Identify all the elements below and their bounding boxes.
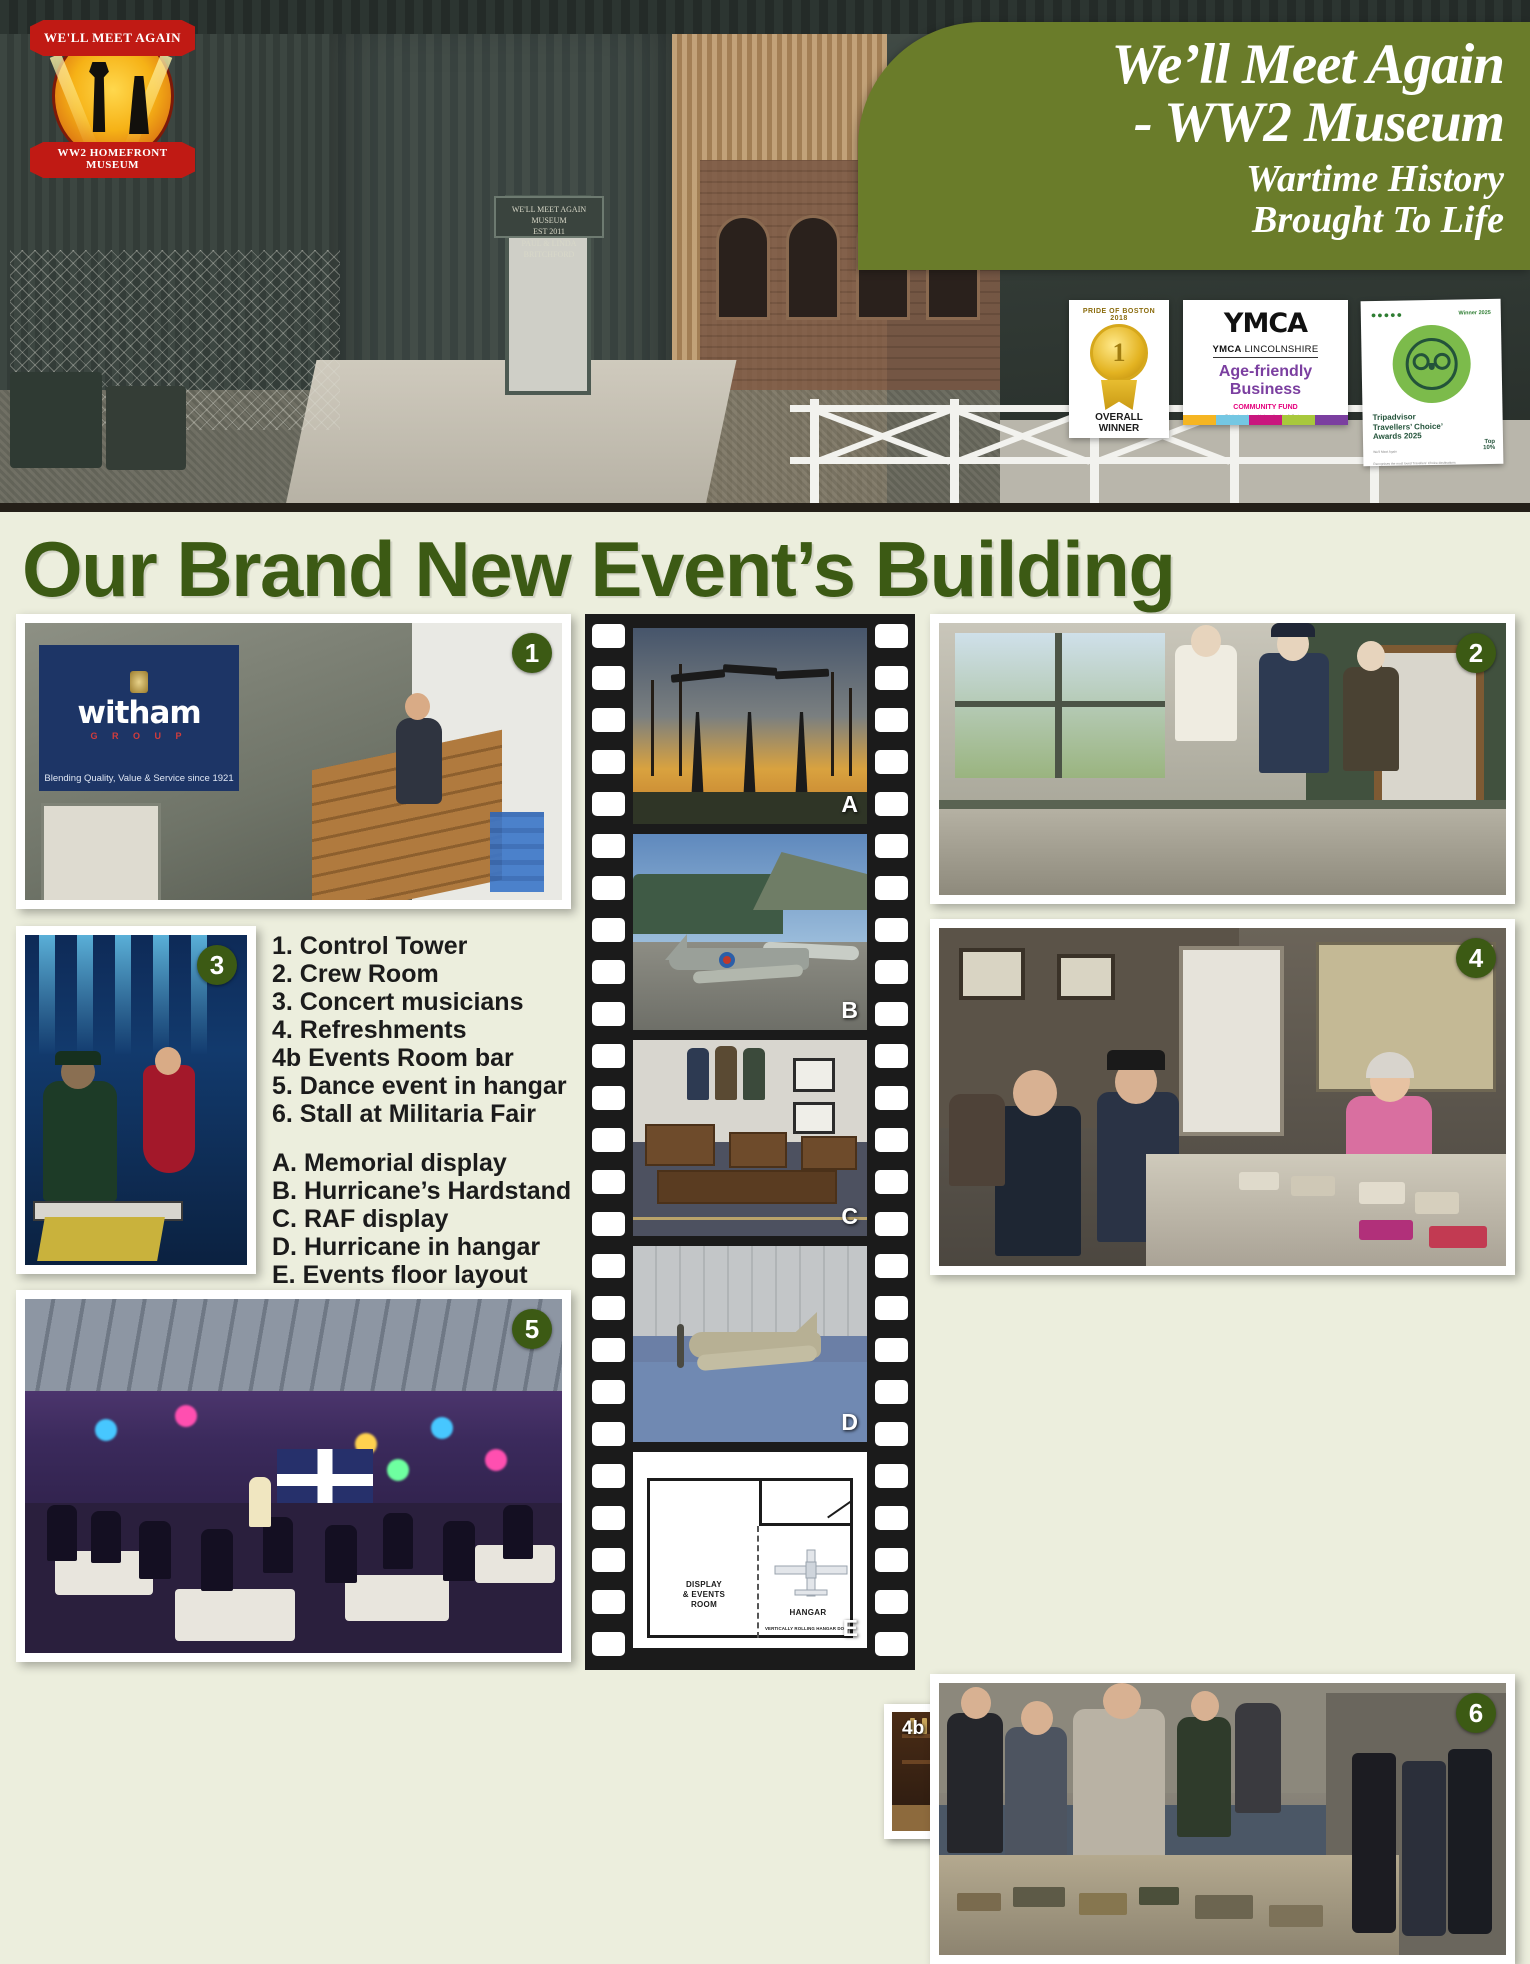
witham-crest-icon [130, 671, 148, 693]
boston-line2: WINNER [1074, 423, 1164, 434]
photo-dance-event-hangar[interactable]: 5 [16, 1290, 571, 1662]
hero-header: WE'LL MEET AGAIN MUSEUMEST 2011PAUL & LI… [0, 0, 1530, 512]
logo-ribbon-line2: MUSEUM [86, 160, 139, 172]
community-fund-logo: COMMUNITY FUND [1193, 404, 1338, 411]
caption-item-3: 3. Concert musicians [272, 988, 572, 1016]
tripadvisor-owl-icon [1392, 324, 1471, 403]
photo-number-badge-4b: 4b [902, 1718, 924, 1740]
floorplan-hangar-label: HANGAR [765, 1608, 851, 1618]
entrance-sign: WE'LL MEET AGAIN MUSEUMEST 2011PAUL & LI… [494, 196, 604, 238]
banner-line-2: - WW2 Museum [902, 93, 1504, 153]
photo-number-badge-3: 3 [197, 945, 237, 985]
tripadvisor-rank: Top 10% [1483, 439, 1495, 452]
strip-frame-raf-display[interactable]: C [633, 1040, 867, 1236]
photo-militaria-fair-stall[interactable]: 6 [930, 1674, 1515, 1964]
community-fund-rest: FUND [1278, 404, 1297, 411]
rating-stars-icon: ●●●●● [1371, 309, 1403, 320]
caption-item-c: C. RAF display [272, 1205, 572, 1233]
logo-top-ribbon: WE'LL MEET AGAIN [30, 20, 195, 56]
photo-refreshments[interactable]: 4 [930, 919, 1515, 1275]
witham-group-logo: witham G R O U P [39, 645, 239, 765]
banner-tagline-2: Brought To Life [902, 200, 1504, 241]
caption-item-d: D. Hurricane in hangar [272, 1233, 572, 1261]
caption-item-1: 1. Control Tower [272, 932, 572, 960]
ymca-color-bar [1183, 415, 1348, 425]
strip-letter-e: E [843, 1615, 858, 1642]
caption-item-2: 2. Crew Room [272, 960, 572, 988]
caption-item-4: 4. Refreshments [272, 1016, 572, 1044]
wheelie-bin-2 [106, 386, 186, 470]
photo-control-tower-image: witham G R O U P Blending Quality, Value… [25, 623, 562, 900]
banner-tagline-1: Wartime History [902, 159, 1504, 200]
wheelie-bin-1 [10, 372, 102, 468]
ta-title-line3: Awards 2025 [1373, 430, 1493, 442]
floorplan-room-line3: ROOM [659, 1600, 749, 1610]
floorplan-room-line2: & EVENTS [659, 1590, 749, 1600]
floorplan-room-label: DISPLAY & EVENTS ROOM [659, 1580, 749, 1610]
caption-item-a: A. Memorial display [272, 1149, 572, 1177]
strip-letter-d: D [841, 1409, 858, 1436]
badge-tripadvisor: ●●●●● Winner 2025 Tripadvisor Travellers… [1361, 299, 1504, 466]
film-strip: A B [585, 614, 915, 1670]
badge-pride-of-boston: PRIDE OF BOSTON 2018 1 OVERALL WINNER [1069, 300, 1169, 438]
photo-number-badge-2: 2 [1456, 633, 1496, 673]
award-badges: PRIDE OF BOSTON 2018 1 OVERALL WINNER YM… [1069, 300, 1502, 465]
photo-militaria-fair-image: 6 [939, 1683, 1506, 1955]
film-strip-frames: A B [633, 628, 867, 1658]
tripadvisor-header: ●●●●● Winner 2025 [1371, 308, 1491, 320]
photo-control-tower[interactable]: witham G R O U P Blending Quality, Value… [16, 614, 571, 909]
banner-line-1: We’ll Meet Again [902, 36, 1504, 93]
photo-dance-event-image: 5 [25, 1299, 562, 1653]
strip-frame-events-floor-layout[interactable]: DISPLAY & EVENTS ROOM HANGAR VERTICALLY … [633, 1452, 867, 1648]
photo-board: witham G R O U P Blending Quality, Value… [0, 614, 1530, 1704]
photo-concert-musicians[interactable]: 3 [16, 926, 256, 1274]
rosette-ribbon [1101, 380, 1137, 410]
strip-letter-c: C [841, 1203, 858, 1230]
photo-number-badge-5: 5 [512, 1309, 552, 1349]
logo-bottom-ribbon: WW2 HOMEFRONT MUSEUM [30, 142, 195, 178]
ymca-region-rest: LINCOLNSHIRE [1242, 344, 1319, 355]
ymca-headline: Age-friendly Business [1193, 363, 1338, 399]
caption-legend: 1. Control Tower 2. Crew Room 3. Concert… [272, 932, 572, 1289]
caption-item-e: E. Events floor layout [272, 1261, 572, 1289]
ymca-region-bold: YMCA [1213, 344, 1242, 355]
ymca-logo: YMCA [1193, 308, 1338, 339]
tripadvisor-venue: We’ll Meet Again [1373, 448, 1493, 454]
tripadvisor-year-tag: Winner 2025 [1458, 310, 1490, 317]
strip-frame-hurricane-in-hangar[interactable]: D [633, 1246, 867, 1442]
page-title: Our Brand New Event’s Building [22, 530, 1530, 608]
rosette-number: 1 [1090, 324, 1148, 382]
strip-frame-hurricanes-hardstand[interactable]: B [633, 834, 867, 1030]
caption-item-6: 6. Stall at Militaria Fair [272, 1100, 572, 1128]
community-fund-bold: COMMUNITY [1233, 404, 1276, 411]
badge-ymca-age-friendly: YMCA YMCA LINCOLNSHIRE Age-friendly Busi… [1183, 300, 1348, 425]
photo-concert-musicians-image: 3 [25, 935, 247, 1265]
caption-item-5: 5. Dance event in hangar [272, 1072, 572, 1100]
floorplan-room-line1: DISPLAY [659, 1580, 749, 1590]
witham-group-text: G R O U P [39, 731, 239, 741]
strip-frame-memorial-display[interactable]: A [633, 628, 867, 824]
witham-wordmark: witham [39, 695, 239, 731]
ymca-region: YMCA LINCOLNSHIRE [1213, 344, 1319, 358]
ta-rank-line2: 10% [1483, 445, 1495, 452]
boston-line1: OVERALL [1074, 412, 1164, 423]
witham-tagline: Blending Quality, Value & Service since … [39, 765, 239, 791]
tripadvisor-title: Tripadvisor Travellers’ Choice’ Awards 2… [1373, 411, 1493, 442]
caption-item-4b: 4b Events Room bar [272, 1044, 572, 1072]
photo-number-badge-1: 1 [512, 633, 552, 673]
hangar-aircraft-plan-icon [773, 1546, 849, 1600]
boston-arc-text: PRIDE OF BOSTON 2018 [1074, 308, 1164, 322]
photo-number-badge-4: 4 [1456, 938, 1496, 978]
photo-crew-room[interactable]: 2 [930, 614, 1515, 904]
museum-title-banner: We’ll Meet Again - WW2 Museum Wartime Hi… [858, 22, 1530, 270]
strip-letter-b: B [841, 997, 858, 1024]
rosette-icon: 1 [1083, 324, 1155, 408]
arch-window-2 [786, 215, 840, 320]
photo-number-badge-6: 6 [1456, 1693, 1496, 1733]
strip-letter-a: A [841, 791, 858, 818]
museum-logo[interactable]: WE'LL MEET AGAIN WW2 HOMEFRONT MUSEUM [30, 4, 195, 194]
photo-refreshments-image: 4 [939, 928, 1506, 1266]
boston-award-text: OVERALL WINNER [1074, 412, 1164, 434]
arch-window-1 [716, 215, 770, 320]
caption-item-b: B. Hurricane’s Hardstand [272, 1177, 572, 1205]
photo-crew-room-image: 2 [939, 623, 1506, 895]
